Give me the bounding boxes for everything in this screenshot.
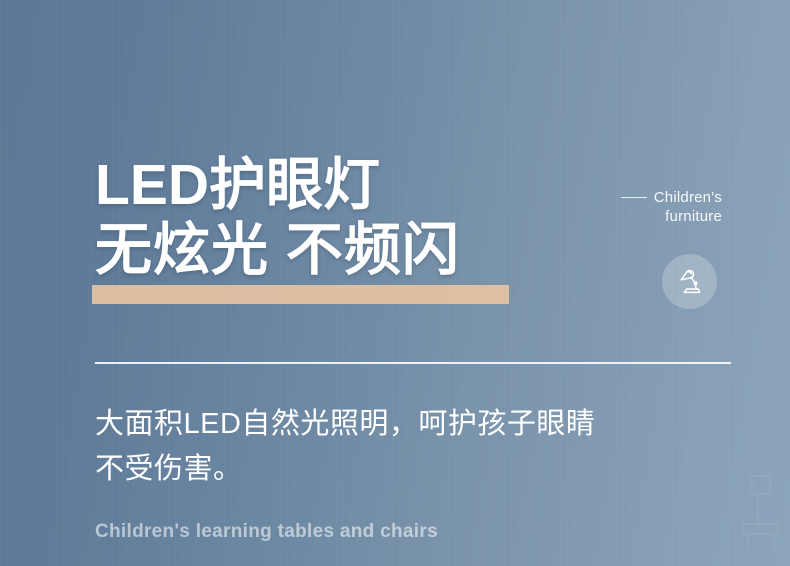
body-copy-block: 大面积LED自然光照明，呵护孩子眼睛 不受伤害。 (95, 402, 595, 492)
headline-line-1: LED护眼灯 (95, 153, 460, 218)
side-label-line-1: Children's (654, 188, 722, 207)
promo-banner: LED护眼灯 无炫光 不频闪 Children's furniture (0, 0, 790, 566)
desk-lamp-icon (674, 266, 706, 298)
footer-tagline: Children's learning tables and chairs (95, 521, 438, 543)
headline-underline-bar (92, 285, 509, 304)
body-copy-line-1: 大面积LED自然光照明，呵护孩子眼睛 (95, 402, 595, 447)
side-label-line-2: furniture (621, 207, 722, 226)
background-watermark (738, 470, 784, 556)
body-copy-line-2: 不受伤害。 (95, 447, 595, 492)
section-divider (95, 362, 731, 364)
side-label-dash-icon (621, 197, 647, 198)
headline-line-2: 无炫光 不频闪 (95, 218, 460, 283)
lamp-badge (662, 254, 717, 309)
headline-block: LED护眼灯 无炫光 不频闪 (95, 153, 460, 283)
side-label-block: Children's furniture (621, 188, 722, 226)
